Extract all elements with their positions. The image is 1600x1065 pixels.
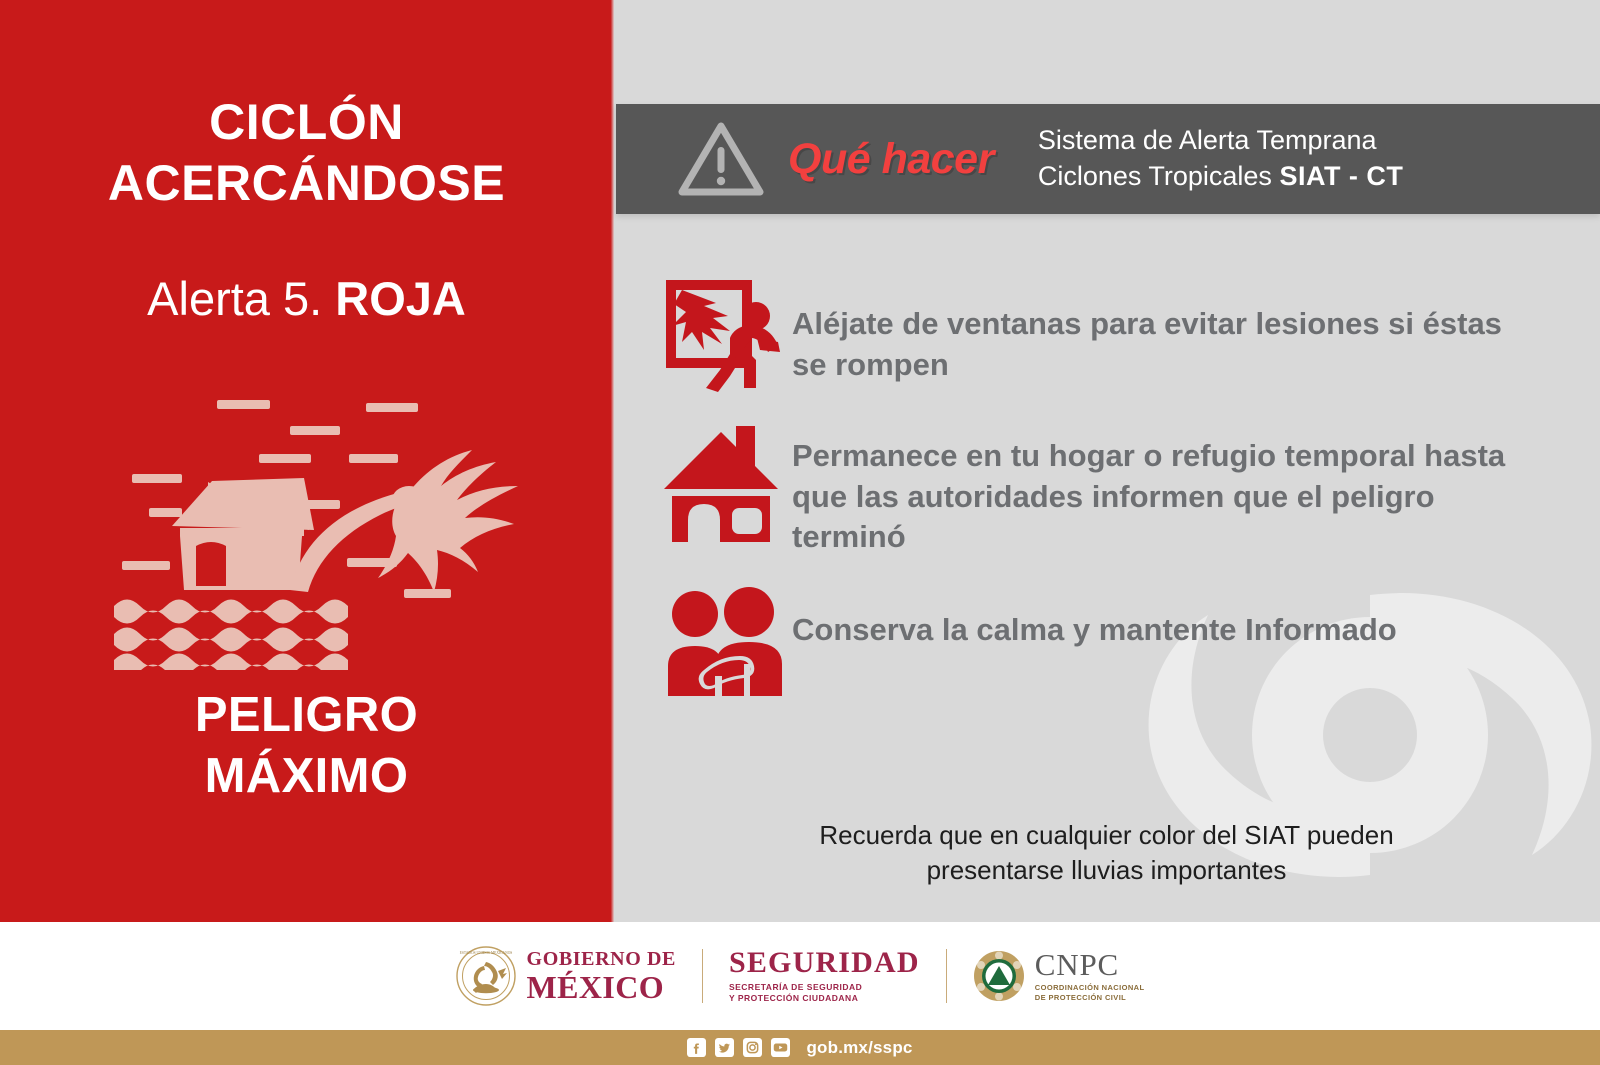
alert-prefix: Alerta 5. bbox=[147, 272, 335, 325]
header-bar: Qué hacer Sistema de Alerta Temprana Cic… bbox=[616, 104, 1600, 214]
mexican-eagle-emblem-icon: ESTADOS UNIDOS MEXICANOS bbox=[456, 946, 516, 1006]
website-url[interactable]: gob.mx/sspc bbox=[806, 1038, 912, 1058]
cnpc-text: CNPC COORDINACIÓN NACIONAL DE PROTECCIÓN… bbox=[1035, 949, 1145, 1004]
instruction-item: Permanece en tu hogar o refugio temporal… bbox=[660, 420, 1540, 558]
instruction-text: Permanece en tu hogar o refugio temporal… bbox=[792, 420, 1540, 558]
warning-triangle-icon bbox=[678, 121, 764, 197]
logo-band: ESTADOS UNIDOS MEXICANOS GOBIERNO DE MÉX… bbox=[0, 922, 1600, 1030]
instruction-icon-wrap bbox=[660, 584, 792, 696]
instruction-text: Aléjate de ventanas para evitar lesiones… bbox=[792, 276, 1540, 385]
youtube-icon[interactable] bbox=[771, 1038, 790, 1057]
system-line-2: Ciclones Tropicales SIAT - CT bbox=[1038, 159, 1404, 195]
instruction-icon-wrap bbox=[660, 420, 792, 542]
gobierno-text: GOBIERNO DE MÉXICO bbox=[527, 949, 676, 1003]
gobierno-line-2: MÉXICO bbox=[527, 971, 676, 1003]
twitter-icon[interactable] bbox=[715, 1038, 734, 1057]
cnpc-logo: CNPC COORDINACIÓN NACIONAL DE PROTECCIÓN… bbox=[973, 949, 1145, 1004]
gobierno-de-mexico-logo: ESTADOS UNIDOS MEXICANOS GOBIERNO DE MÉX… bbox=[456, 946, 676, 1006]
gobierno-line-1: GOBIERNO DE bbox=[527, 949, 676, 969]
danger-level-label: PELIGRO MÁXIMO bbox=[0, 685, 613, 808]
logo-divider bbox=[702, 949, 703, 1003]
instruction-icon-wrap bbox=[660, 276, 792, 394]
flooded-house-palm-illustration bbox=[104, 378, 524, 670]
cnpc-subtitle: COORDINACIÓN NACIONAL DE PROTECCIÓN CIVI… bbox=[1035, 983, 1145, 1004]
note-line-1: Recuerda que en cualquier color del SIAT… bbox=[613, 818, 1600, 853]
note-line-2: presentarse lluvias importantes bbox=[613, 853, 1600, 888]
alert-level-label: ROJA bbox=[335, 272, 466, 325]
seguridad-title: SEGURIDAD bbox=[729, 948, 920, 978]
cnpc-title: CNPC bbox=[1035, 949, 1145, 980]
logo-divider bbox=[946, 949, 947, 1003]
rain-reminder-note: Recuerda que en cualquier color del SIAT… bbox=[613, 818, 1600, 887]
svg-text:ESTADOS UNIDOS MEXICANOS: ESTADOS UNIDOS MEXICANOS bbox=[459, 951, 512, 955]
house-shelter-icon bbox=[660, 420, 782, 542]
instruction-text: Conserva la calma y mantente Informado bbox=[792, 584, 1397, 651]
system-line-1: Sistema de Alerta Temprana bbox=[1038, 123, 1404, 159]
alert-level-heading: Alerta 5. ROJA bbox=[0, 272, 613, 326]
cnpc-civil-protection-emblem-icon bbox=[973, 950, 1025, 1002]
social-footer-bar: gob.mx/sspc bbox=[0, 1030, 1600, 1065]
instagram-icon[interactable] bbox=[743, 1038, 762, 1057]
instruction-item: Aléjate de ventanas para evitar lesiones… bbox=[660, 276, 1540, 394]
instruction-item: Conserva la calma y mantente Informado bbox=[660, 584, 1540, 696]
infographic-canvas: CICLÓN ACERCÁNDOSE Alerta 5. ROJA bbox=[0, 0, 1600, 1065]
facebook-icon[interactable] bbox=[687, 1038, 706, 1057]
instruction-list: Aléjate de ventanas para evitar lesiones… bbox=[660, 276, 1540, 722]
two-people-calm-icon bbox=[660, 584, 782, 696]
que-hacer-title: Qué hacer bbox=[788, 135, 994, 184]
seguridad-logo: SEGURIDAD SECRETARÍA DE SEGURIDAD Y PROT… bbox=[729, 948, 920, 1005]
cyclone-title: CICLÓN ACERCÁNDOSE bbox=[0, 92, 613, 214]
broken-window-person-fleeing-icon bbox=[660, 276, 782, 394]
seguridad-subtitle: SECRETARÍA DE SEGURIDAD Y PROTECCIÓN CIU… bbox=[729, 982, 920, 1005]
siat-ct-acronym: SIAT - CT bbox=[1279, 161, 1403, 191]
system-name: Sistema de Alerta Temprana Ciclones Trop… bbox=[1038, 123, 1404, 195]
